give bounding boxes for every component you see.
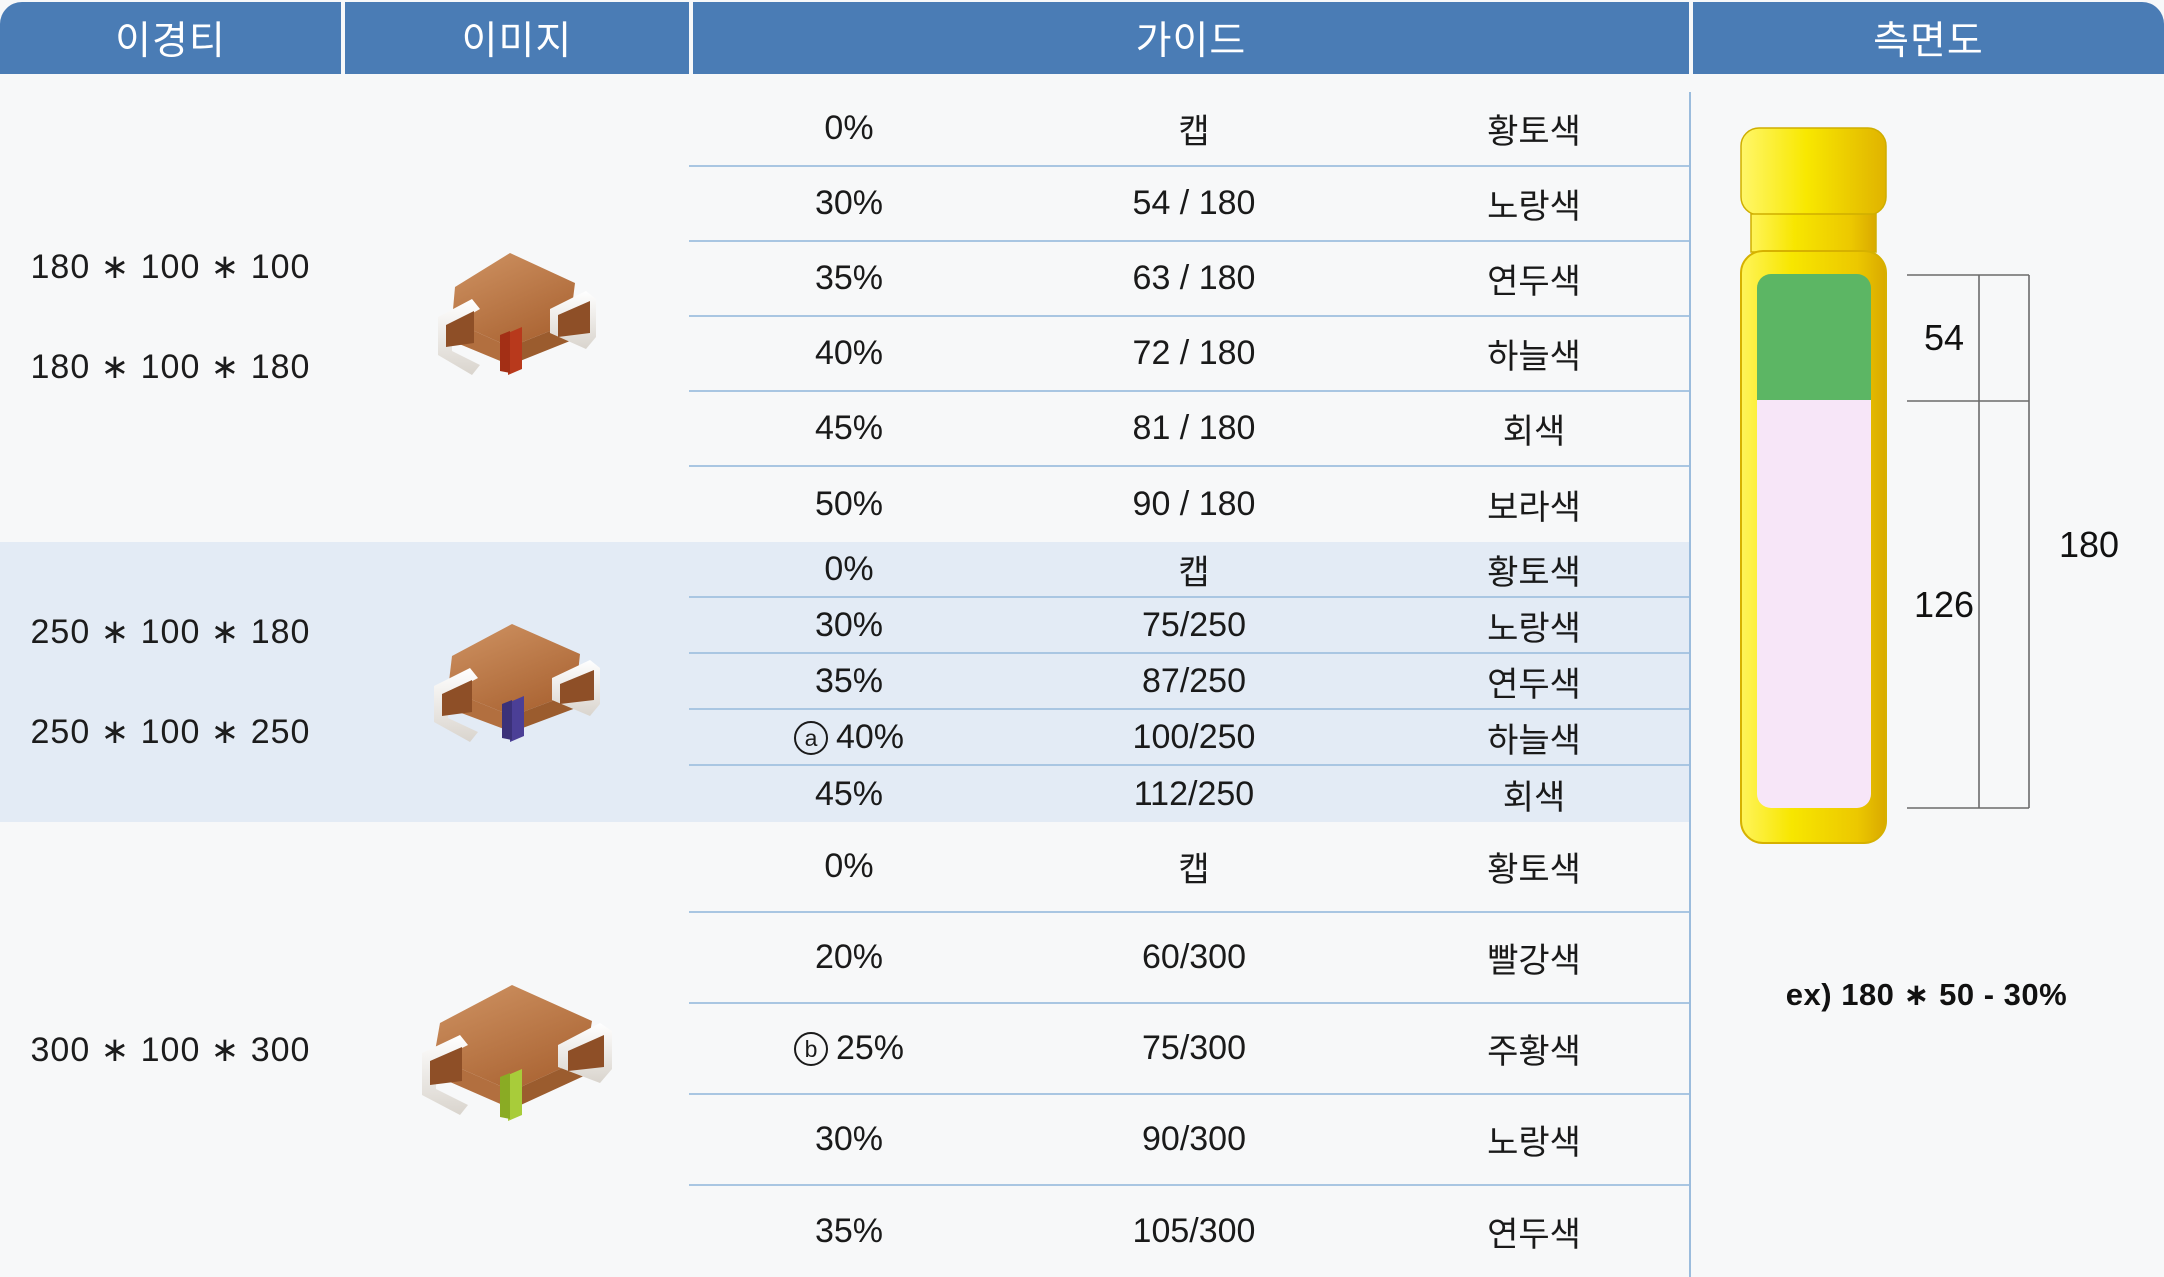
guide-percent-cell: 20% bbox=[689, 938, 1009, 977]
guide-row: 50%90 / 180보라색 bbox=[689, 467, 1689, 542]
guide-percent-value: 50% bbox=[815, 485, 883, 523]
guide-percent-value: 0% bbox=[824, 109, 873, 147]
guide-percent-cell: 35% bbox=[689, 259, 1009, 298]
guide-ratio-cell: 100/250 bbox=[1009, 718, 1379, 757]
guide-percent-cell: a40% bbox=[689, 718, 1009, 757]
col-header-sideview: 측면도 bbox=[1693, 2, 2164, 74]
size-column: 180 ∗ 100 ∗ 100 180 ∗ 100 ∗ 180 250 ∗ 10… bbox=[0, 92, 341, 1277]
guide-color-name-cell: 하늘색 bbox=[1379, 329, 1689, 378]
guide-percent-cell: 0% bbox=[689, 550, 1009, 589]
dim-upper-value: 54 bbox=[1924, 317, 1964, 358]
stripe bbox=[508, 327, 522, 375]
fill-upper-green bbox=[1757, 274, 1871, 400]
dim-lower-value: 126 bbox=[1914, 584, 1974, 625]
guide-row: 20%60/300빨강색 bbox=[689, 913, 1689, 1004]
guide-color-name-cell: 노랑색 bbox=[1379, 601, 1689, 650]
guide-ratio-cell: 캡 bbox=[1009, 842, 1379, 891]
guide-row: 45%81 / 180회색 bbox=[689, 392, 1689, 467]
stripe bbox=[510, 696, 524, 742]
guide-color-name-cell: 황토색 bbox=[1379, 545, 1689, 594]
guide-ratio-cell: 112/250 bbox=[1009, 775, 1379, 814]
guide-row: 40%72 / 180하늘색 bbox=[689, 317, 1689, 392]
product-image-svg bbox=[400, 225, 630, 405]
sideview-diagram: 54 126 180 ex) 180 ∗ 50 - 30% bbox=[1689, 92, 2164, 1277]
guide-percent-value: 0% bbox=[824, 847, 873, 885]
bottle-diagram-svg: 54 126 180 bbox=[1689, 92, 2164, 972]
col-header-image: 이미지 bbox=[345, 2, 689, 74]
guide-percent-cell: 30% bbox=[689, 606, 1009, 645]
size-block-2: 250 ∗ 100 ∗ 180 250 ∗ 100 ∗ 250 bbox=[0, 542, 341, 822]
guide-row: 0%캡황토색 bbox=[689, 92, 1689, 167]
size-label: 180 ∗ 100 ∗ 100 bbox=[31, 247, 311, 287]
guide-percent-cell: 45% bbox=[689, 409, 1009, 448]
guide-row: b25%75/300주황색 bbox=[689, 1004, 1689, 1095]
guide-row: 35%87/250연두색 bbox=[689, 654, 1689, 710]
guide-percent-cell: 35% bbox=[689, 662, 1009, 701]
guide-color-name-cell: 황토색 bbox=[1379, 842, 1689, 891]
guide-percent-cell: 0% bbox=[689, 847, 1009, 886]
guide-percent-value: 25% bbox=[836, 1029, 904, 1067]
size-label: 250 ∗ 100 ∗ 180 bbox=[31, 612, 311, 652]
product-image-svg bbox=[390, 957, 640, 1137]
product-tee-250-100-180 bbox=[400, 600, 630, 765]
guide-color-name-cell: 연두색 bbox=[1379, 1207, 1689, 1256]
guide-color-name-cell: 회색 bbox=[1379, 770, 1689, 819]
size-label: 300 ∗ 100 ∗ 300 bbox=[31, 1030, 311, 1070]
col-header-guide: 가이드 bbox=[693, 2, 1689, 74]
guide-percent-value: 45% bbox=[815, 409, 883, 447]
image-column bbox=[341, 92, 689, 1277]
sideview-column: 54 126 180 ex) 180 ∗ 50 - 30% bbox=[1689, 92, 2164, 1277]
guide-row: a40%100/250하늘색 bbox=[689, 710, 1689, 766]
product-image-svg bbox=[400, 600, 630, 760]
product-tee-180-100-100 bbox=[400, 225, 630, 410]
guide-percent-value: 30% bbox=[815, 184, 883, 222]
guide-ratio-cell: 75/300 bbox=[1009, 1029, 1379, 1068]
guide-percent-cell: 45% bbox=[689, 775, 1009, 814]
guide-percent-cell: 40% bbox=[689, 334, 1009, 373]
guide-percent-cell: 30% bbox=[689, 184, 1009, 223]
guide-color-name-cell: 연두색 bbox=[1379, 254, 1689, 303]
guide-color-name-cell: 노랑색 bbox=[1379, 1115, 1689, 1164]
guide-row: 45%112/250회색 bbox=[689, 766, 1689, 822]
guide-percent-value: 45% bbox=[815, 775, 883, 813]
guide-ratio-cell: 90/300 bbox=[1009, 1120, 1379, 1159]
guide-percent-value: 30% bbox=[815, 606, 883, 644]
size-label: 180 ∗ 100 ∗ 180 bbox=[31, 347, 311, 387]
guide-percent-cell: 0% bbox=[689, 109, 1009, 148]
guide-color-name-cell: 주황색 bbox=[1379, 1024, 1689, 1073]
guide-row: 0%캡황토색 bbox=[689, 542, 1689, 598]
guide-row: 35%105/300연두색 bbox=[689, 1186, 1689, 1277]
bottle-cap bbox=[1741, 128, 1886, 215]
guide-row: 30%54 / 180노랑색 bbox=[689, 167, 1689, 242]
dim-total-value: 180 bbox=[2059, 524, 2119, 565]
row-marker-badge: b bbox=[794, 1032, 828, 1066]
guide-ratio-cell: 캡 bbox=[1009, 104, 1379, 153]
guide-color-name-cell: 하늘색 bbox=[1379, 713, 1689, 762]
guide-ratio-cell: 63 / 180 bbox=[1009, 259, 1379, 298]
guide-percent-value: 40% bbox=[815, 334, 883, 372]
guide-ratio-cell: 81 / 180 bbox=[1009, 409, 1379, 448]
guide-percent-cell: 50% bbox=[689, 485, 1009, 524]
guide-ratio-cell: 90 / 180 bbox=[1009, 485, 1379, 524]
guide-color-name-cell: 회색 bbox=[1379, 404, 1689, 453]
guide-row: 0%캡황토색 bbox=[689, 822, 1689, 913]
guide-ratio-cell: 캡 bbox=[1009, 545, 1379, 594]
size-label: 250 ∗ 100 ∗ 250 bbox=[31, 712, 311, 752]
guide-ratio-cell: 54 / 180 bbox=[1009, 184, 1379, 223]
guide-block-1: 0%캡황토색30%54 / 180노랑색35%63 / 180연두색40%72 … bbox=[689, 92, 1689, 542]
guide-row: 30%90/300노랑색 bbox=[689, 1095, 1689, 1186]
table-header: 이경티 이미지 가이드 측면도 bbox=[0, 0, 2164, 90]
size-block-1: 180 ∗ 100 ∗ 100 180 ∗ 100 ∗ 180 bbox=[0, 92, 341, 542]
image-block-1 bbox=[341, 92, 689, 542]
guide-ratio-cell: 60/300 bbox=[1009, 938, 1379, 977]
guide-color-name-cell: 연두색 bbox=[1379, 657, 1689, 706]
guide-color-name-cell: 노랑색 bbox=[1379, 179, 1689, 228]
guide-row: 35%63 / 180연두색 bbox=[689, 242, 1689, 317]
guide-percent-value: 35% bbox=[815, 662, 883, 700]
guide-block-2: 0%캡황토색30%75/250노랑색35%87/250연두색a40%100/25… bbox=[689, 542, 1689, 822]
image-block-3 bbox=[341, 822, 689, 1277]
guide-ratio-cell: 105/300 bbox=[1009, 1212, 1379, 1251]
spec-sheet: 이경티 이미지 가이드 측면도 180 ∗ 100 ∗ 100 180 ∗ 10… bbox=[0, 0, 2164, 1277]
guide-percent-value: 40% bbox=[836, 718, 904, 756]
guide-color-name-cell: 황토색 bbox=[1379, 104, 1689, 153]
guide-ratio-cell: 87/250 bbox=[1009, 662, 1379, 701]
guide-percent-value: 30% bbox=[815, 1120, 883, 1158]
fill-lower-pink bbox=[1757, 400, 1871, 808]
guide-color-name-cell: 빨강색 bbox=[1379, 933, 1689, 982]
guide-percent-cell: b25% bbox=[689, 1029, 1009, 1068]
guide-percent-value: 20% bbox=[815, 938, 883, 976]
guide-ratio-cell: 72 / 180 bbox=[1009, 334, 1379, 373]
guide-block-3: 0%캡황토색20%60/300빨강색b25%75/300주황색30%90/300… bbox=[689, 822, 1689, 1277]
guide-percent-value: 35% bbox=[815, 1212, 883, 1250]
row-marker-badge: a bbox=[794, 721, 828, 755]
guide-percent-cell: 35% bbox=[689, 1212, 1009, 1251]
guide-color-name-cell: 보라색 bbox=[1379, 480, 1689, 529]
image-block-2 bbox=[341, 542, 689, 822]
guide-row: 30%75/250노랑색 bbox=[689, 598, 1689, 654]
product-tee-300-100-300 bbox=[390, 957, 640, 1142]
stripe bbox=[508, 1069, 522, 1121]
guide-percent-cell: 30% bbox=[689, 1120, 1009, 1159]
bottle-neck bbox=[1751, 214, 1876, 252]
size-block-3: 300 ∗ 100 ∗ 300 bbox=[0, 822, 341, 1277]
guide-column: 0%캡황토색30%54 / 180노랑색35%63 / 180연두색40%72 … bbox=[689, 92, 1689, 1277]
guide-ratio-cell: 75/250 bbox=[1009, 606, 1379, 645]
col-header-size: 이경티 bbox=[0, 2, 341, 74]
table-body: 180 ∗ 100 ∗ 100 180 ∗ 100 ∗ 180 250 ∗ 10… bbox=[0, 92, 2164, 1277]
guide-percent-value: 35% bbox=[815, 259, 883, 297]
guide-percent-value: 0% bbox=[824, 550, 873, 588]
sideview-caption: ex) 180 ∗ 50 - 30% bbox=[1689, 977, 2164, 1013]
